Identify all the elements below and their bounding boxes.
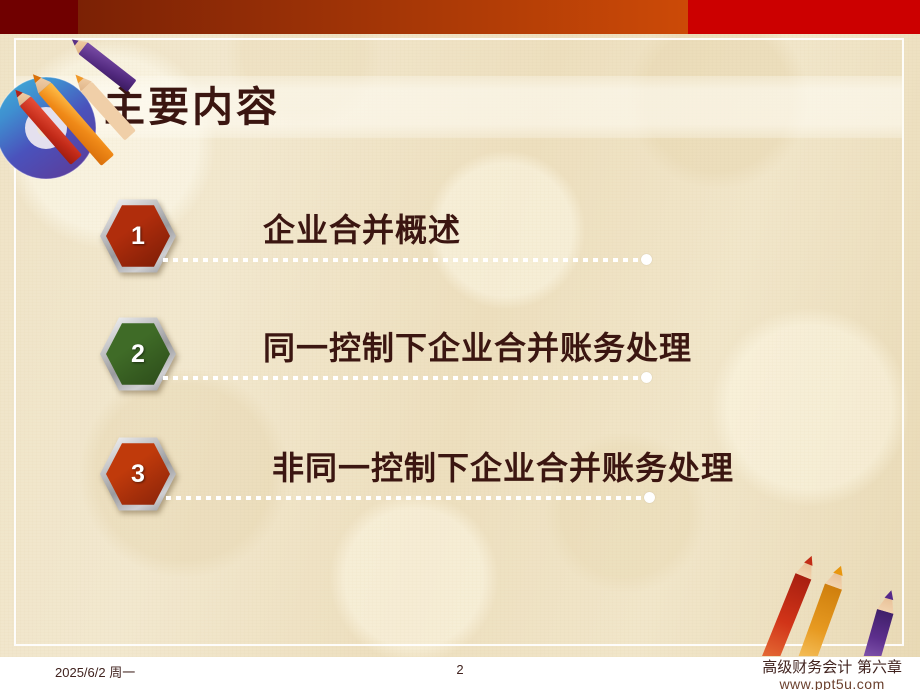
- slide-footer: 2025/6/2 周一 2 高级财务会计 第六章 www.ppt5u.com: [0, 657, 920, 690]
- agenda-label-3[interactable]: 非同一控制下企业合并账务处理: [272, 442, 734, 494]
- dotted-connector-1: [163, 258, 641, 262]
- agenda-label-2[interactable]: 同一控制下企业合并账务处理: [263, 322, 692, 374]
- agenda-label-1[interactable]: 企业合并概述: [263, 204, 461, 256]
- hexagon-number-1: 1: [100, 198, 176, 274]
- slide-root: 主要内容: [0, 0, 920, 690]
- hexagon-badge-2[interactable]: 2: [100, 316, 176, 392]
- agenda-item-2[interactable]: 2 同一控制下企业合并账务处理: [0, 316, 920, 392]
- dotted-connector-end-dot-1: [641, 254, 652, 265]
- footer-right-block: 高级财务会计 第六章 www.ppt5u.com: [762, 659, 902, 690]
- agenda-item-1[interactable]: 1 企业合并概述: [0, 198, 920, 274]
- dotted-connector-2: [163, 376, 641, 380]
- hexagon-badge-3[interactable]: 3: [100, 436, 176, 512]
- footer-page-number: 2: [440, 662, 480, 677]
- hexagon-number-2: 2: [100, 316, 176, 392]
- agenda-list: 1 企业合并概述 2 同一控制下企业合并账务处理 3: [0, 0, 920, 657]
- hexagon-badge-1[interactable]: 1: [100, 198, 176, 274]
- footer-website: www.ppt5u.com: [762, 676, 902, 690]
- hexagon-number-3: 3: [100, 436, 176, 512]
- agenda-item-3[interactable]: 3 非同一控制下企业合并账务处理: [0, 436, 920, 512]
- footer-date: 2025/6/2 周一: [55, 662, 135, 681]
- dotted-connector-3: [166, 496, 644, 500]
- footer-course-title: 高级财务会计 第六章: [762, 659, 902, 676]
